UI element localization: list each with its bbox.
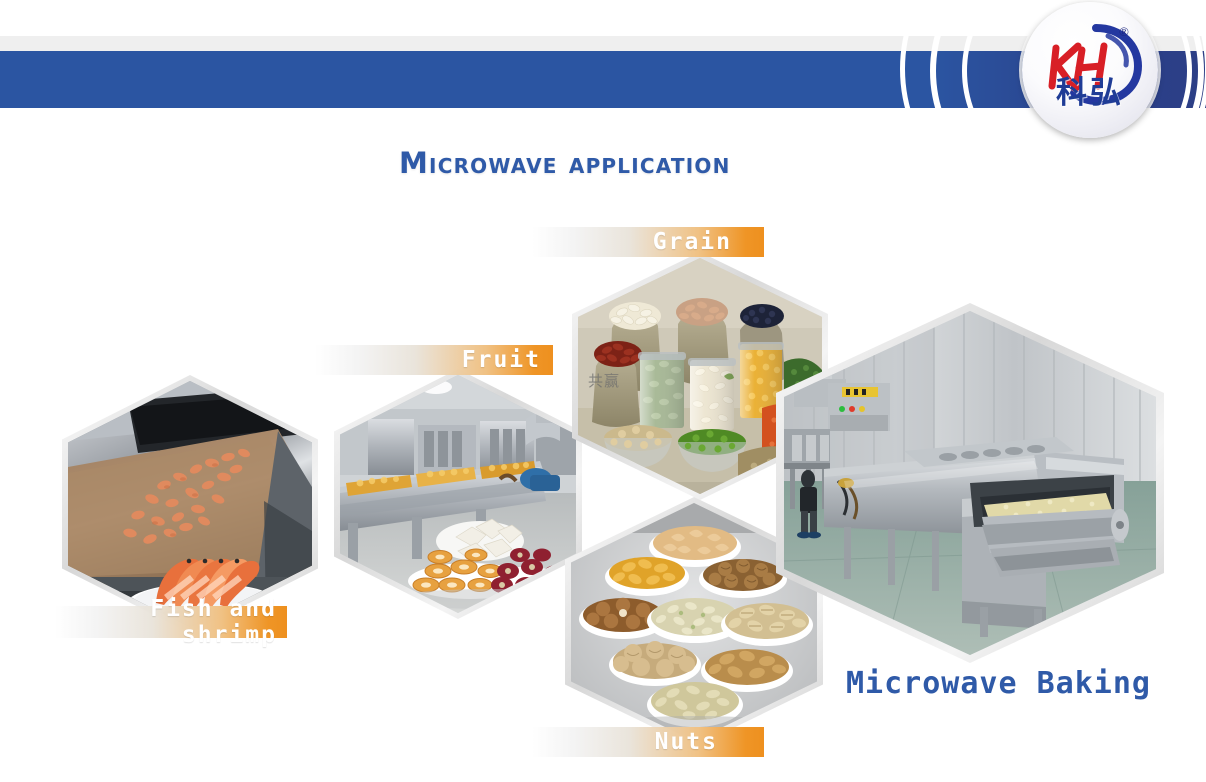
grain-watermark: 共赢 (588, 370, 620, 391)
label-tab-nuts: Nuts (532, 727, 764, 757)
label-text-nuts: Nuts (655, 729, 718, 755)
registered-trademark-icon: ® (1119, 24, 1129, 40)
company-logo: ® 科弘 (1022, 2, 1158, 138)
page-title: Microwave application (399, 146, 731, 180)
logo-mark-icon (1022, 2, 1158, 138)
label-text-grain: Grain (653, 229, 732, 255)
label-tab-grain: Grain (532, 227, 764, 257)
label-text-fish-and-shrimp: Fish and shrimp (55, 596, 277, 648)
label-tab-fruit: Fruit (315, 345, 553, 375)
hex-image-microwave-baking[interactable] (784, 311, 1156, 655)
hex-image-fish-and-shrimp[interactable] (68, 381, 312, 627)
label-tab-fish-and-shrimp: Fish and shrimp (55, 606, 287, 638)
logo-chinese-name: 科弘 (1022, 76, 1158, 110)
shrimp-conveyor-scene (68, 381, 312, 627)
microwave-baking-machine-scene (784, 311, 1156, 655)
caption-microwave-baking: Microwave Baking (846, 666, 1151, 701)
label-text-fruit: Fruit (462, 347, 541, 373)
